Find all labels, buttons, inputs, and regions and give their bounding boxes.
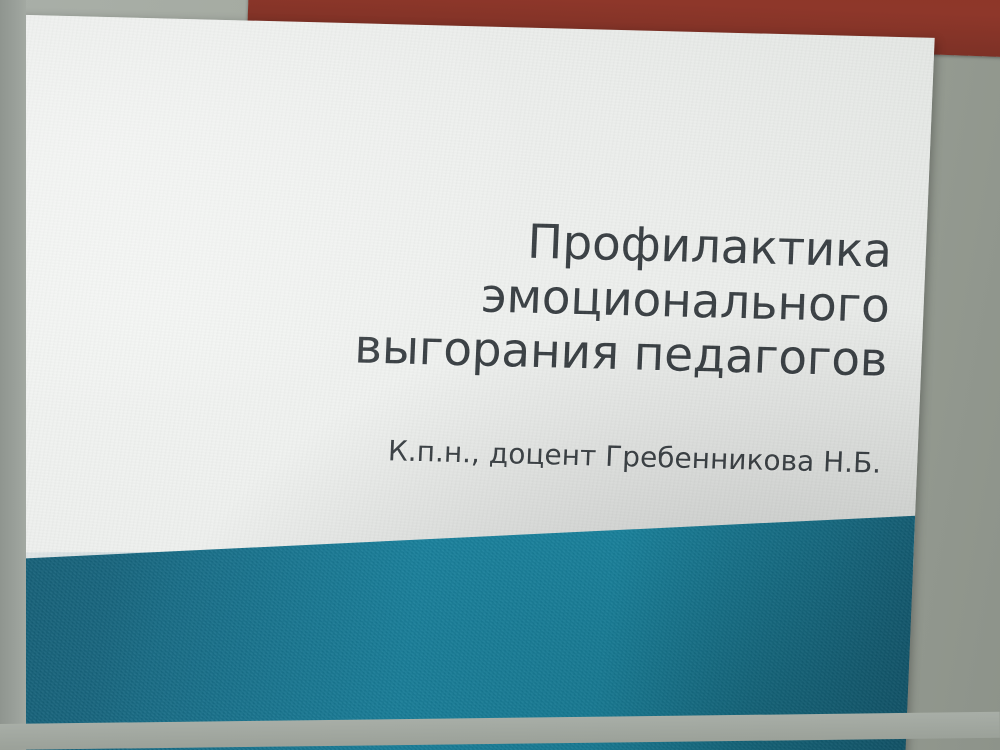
monitor-left-bezel	[0, 0, 26, 750]
slide-canvas: Профилактика эмоционального выгорания пе…	[0, 14, 935, 750]
screen-photo: Вход Профилактика эмоционального выгоран…	[0, 0, 1000, 750]
slide-subtitle-author: К.п.н., доцент Гребенникова Н.Б.	[241, 431, 882, 480]
presentation-slide-frame[interactable]: Профилактика эмоционального выгорания пе…	[0, 14, 935, 750]
slide-title: Профилактика эмоционального выгорания пе…	[246, 209, 893, 389]
